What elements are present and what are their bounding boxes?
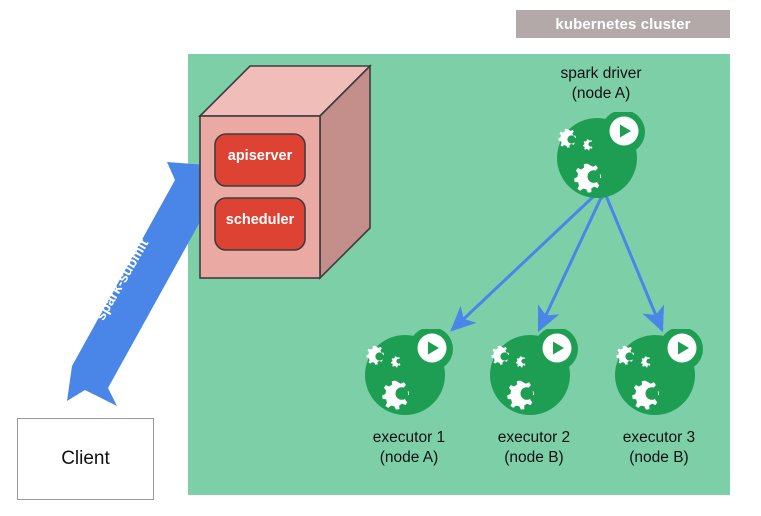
executor-1-label-line1: executor 1 xyxy=(373,429,445,446)
spark-driver-label-line1: spark driver xyxy=(561,65,642,82)
spark-submit-banner-shape xyxy=(67,162,211,406)
executor-1-node xyxy=(359,329,459,417)
executor-2-node xyxy=(484,329,584,417)
client-box: Client xyxy=(17,418,154,500)
gears-play-icon xyxy=(557,112,645,198)
spark-driver-label-line2: (node A) xyxy=(521,84,681,104)
executor-3-label-line2: (node B) xyxy=(581,448,737,468)
gear-medium-hole xyxy=(567,135,575,143)
gear-small-hole xyxy=(588,142,593,147)
spark-submit-arrow xyxy=(55,160,215,410)
gears-play-icon xyxy=(615,329,703,415)
spark-driver-label: spark driver (node A) xyxy=(521,64,681,104)
gears-play-icon xyxy=(490,329,578,415)
executor-3-node xyxy=(609,329,709,417)
gear-large-hole xyxy=(588,170,601,183)
scheduler-label: scheduler xyxy=(215,212,305,228)
executor-3-label-line1: executor 3 xyxy=(623,429,695,446)
apiserver-label: apiserver xyxy=(215,148,305,164)
spark-driver-node xyxy=(551,112,651,200)
cluster-title-tag: kubernetes cluster xyxy=(516,10,730,38)
executor-2-label-line1: executor 2 xyxy=(498,429,570,446)
gears-play-icon xyxy=(365,329,453,415)
control-plane-cube xyxy=(198,62,373,284)
diagram-canvas: kubernetes cluster Client spark-submit a… xyxy=(0,0,761,516)
client-label: Client xyxy=(61,448,110,470)
executor-3-label: executor 3 (node B) xyxy=(581,428,737,468)
cluster-title-text: kubernetes cluster xyxy=(555,16,690,33)
